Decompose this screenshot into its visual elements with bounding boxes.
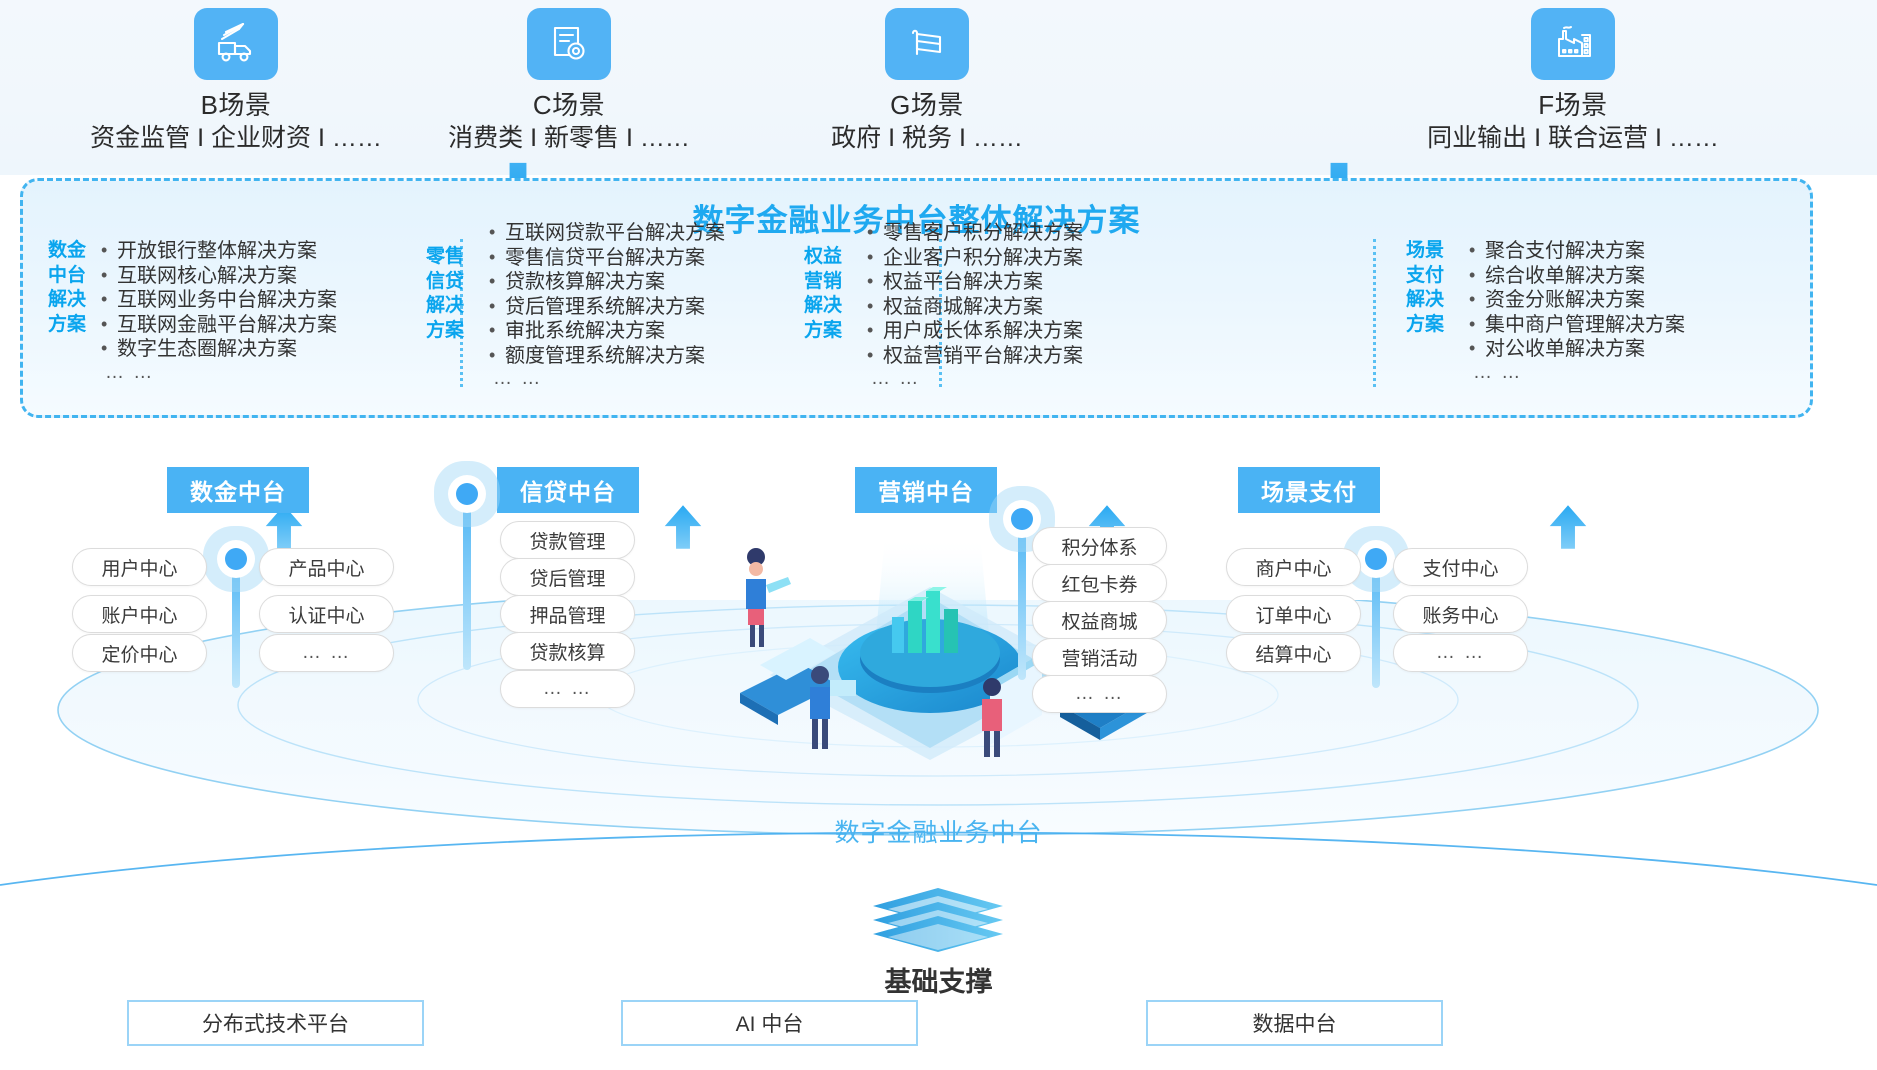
up-arrow-payment <box>1548 502 1588 552</box>
list-item: 零售信贷平台解决方案 <box>489 246 725 271</box>
platform-tag-payment[interactable]: 场景支付 <box>1238 467 1380 513</box>
receipt-icon <box>527 8 611 80</box>
stem-marketing <box>1018 520 1026 680</box>
list-item: 资金分账解决方案 <box>1469 288 1685 313</box>
list-ellipsis: … … <box>867 368 1083 390</box>
capsule-more-credit[interactable]: … … <box>500 670 635 708</box>
factory-icon <box>1531 8 1615 80</box>
list-item: 对公收单解决方案 <box>1469 337 1685 362</box>
list-item: 权益商城解决方案 <box>867 295 1083 320</box>
capsule-auth-center[interactable]: 认证中心 <box>259 595 394 633</box>
diagram-root: B场景 资金监管 I 企业财资 I …… C场景 消费类 I 新零售 I …… <box>0 0 1877 1070</box>
scenario-b[interactable]: B场景 资金监管 I 企业财资 I …… <box>66 8 406 155</box>
capsule-more-payment[interactable]: … … <box>1393 634 1528 672</box>
list-item: 审批系统解决方案 <box>489 319 725 344</box>
list-item: 集中商户管理解决方案 <box>1469 313 1685 338</box>
capsule-more-marketing[interactable]: … … <box>1032 675 1167 713</box>
capsule-account-center[interactable]: 账户中心 <box>72 595 207 633</box>
foundation-title: 基础支撑 <box>0 960 1877 999</box>
scenario-title: G场景 <box>757 89 1097 122</box>
capsule-payment-center[interactable]: 支付中心 <box>1393 548 1528 586</box>
truck-icon <box>194 8 278 80</box>
capsule-marketing-campaign[interactable]: 营销活动 <box>1032 638 1167 676</box>
platform-tag-marketing[interactable]: 营销中台 <box>855 467 997 513</box>
list-item: 聚合支付解决方案 <box>1469 239 1685 264</box>
list-item: 互联网金融平台解决方案 <box>101 313 337 338</box>
capsule-user-center[interactable]: 用户中心 <box>72 548 207 586</box>
list-item: 开放银行整体解决方案 <box>101 239 337 264</box>
scenario-subtitle: 同业输出 I 联合运营 I …… <box>1403 122 1743 155</box>
scenario-title: B场景 <box>66 89 406 122</box>
capsule-rights-mall[interactable]: 权益商城 <box>1032 601 1167 639</box>
capsule-product-center[interactable]: 产品中心 <box>259 548 394 586</box>
column-label: 场景 支付 解决 方案 <box>1403 239 1447 337</box>
capsule-accounting-center[interactable]: 账务中心 <box>1393 595 1528 633</box>
platform-tag-digital-finance[interactable]: 数金中台 <box>167 467 309 513</box>
foundation-box-ai-platform[interactable]: AI 中台 <box>621 1000 918 1046</box>
stem-digital-finance <box>232 560 240 688</box>
foundation-box-data-platform[interactable]: 数据中台 <box>1146 1000 1443 1046</box>
solution-list: 互联网贷款平台解决方案 零售信贷平台解决方案 贷款核算解决方案 贷后管理系统解决… <box>489 221 725 390</box>
capsule-settlement-center[interactable]: 结算中心 <box>1226 634 1361 672</box>
stem-credit <box>463 495 471 670</box>
stem-dot-marketing <box>1011 508 1033 530</box>
scenario-f[interactable]: F场景 同业输出 I 联合运营 I …… <box>1403 8 1743 155</box>
capsule-loan-accounting[interactable]: 贷款核算 <box>500 632 635 670</box>
capsule-order-center[interactable]: 订单中心 <box>1226 595 1361 633</box>
list-item: 互联网贷款平台解决方案 <box>489 221 725 246</box>
solution-column-digital-finance: 数金 中台 解决 方案 开放银行整体解决方案 互联网核心解决方案 互联网业务中台… <box>45 239 337 384</box>
scenario-title: F场景 <box>1403 89 1743 122</box>
list-item: 零售客户积分解决方案 <box>867 221 1083 246</box>
scenario-c[interactable]: C场景 消费类 I 新零售 I …… <box>399 8 739 155</box>
list-item: 额度管理系统解决方案 <box>489 344 725 369</box>
list-item: 贷款核算解决方案 <box>489 270 725 295</box>
column-label: 权益 营销 解决 方案 <box>801 245 845 343</box>
capsule-coupons[interactable]: 红包卡券 <box>1032 564 1167 602</box>
platform-tag-credit[interactable]: 信贷中台 <box>497 467 639 513</box>
scenario-subtitle: 政府 I 税务 I …… <box>757 122 1097 155</box>
stem-payment <box>1372 560 1380 688</box>
stem-dot-credit <box>456 483 478 505</box>
capsule-collateral-management[interactable]: 押品管理 <box>500 595 635 633</box>
list-item: 企业客户积分解决方案 <box>867 246 1083 271</box>
list-ellipsis: … … <box>1469 362 1685 384</box>
capsule-post-loan-management[interactable]: 贷后管理 <box>500 558 635 596</box>
scenario-title: C场景 <box>399 89 739 122</box>
solution-list: 零售客户积分解决方案 企业客户积分解决方案 权益平台解决方案 权益商城解决方案 … <box>867 221 1083 390</box>
list-ellipsis: … … <box>489 368 725 390</box>
capsule-more-digital-finance[interactable]: … … <box>259 634 394 672</box>
list-item: 互联网核心解决方案 <box>101 264 337 289</box>
list-item: 权益营销平台解决方案 <box>867 344 1083 369</box>
solution-column-rights-marketing: 权益 营销 解决 方案 零售客户积分解决方案 企业客户积分解决方案 权益平台解决… <box>801 221 1083 390</box>
solution-panel: 数字金融业务中台整体解决方案 数金 中台 解决 方案 开放银行整体解决方案 互联… <box>20 178 1813 418</box>
list-item: 贷后管理系统解决方案 <box>489 295 725 320</box>
list-item: 数字生态圈解决方案 <box>101 337 337 362</box>
list-ellipsis: … … <box>101 362 337 384</box>
column-label: 数金 中台 解决 方案 <box>45 239 89 337</box>
scenario-subtitle: 消费类 I 新零售 I …… <box>399 122 739 155</box>
capsule-loan-management[interactable]: 贷款管理 <box>500 521 635 559</box>
solution-list: 开放银行整体解决方案 互联网核心解决方案 互联网业务中台解决方案 互联网金融平台… <box>101 239 337 384</box>
solution-column-scenario-payment: 场景 支付 解决 方案 聚合支付解决方案 综合收单解决方案 资金分账解决方案 集… <box>1403 239 1685 384</box>
scenario-band: B场景 资金监管 I 企业财资 I …… C场景 消费类 I 新零售 I …… <box>0 0 1877 175</box>
capsule-pricing-center[interactable]: 定价中心 <box>72 634 207 672</box>
stem-dot-digital-finance <box>225 548 247 570</box>
foundation-box-distributed-tech[interactable]: 分布式技术平台 <box>127 1000 424 1046</box>
middle-platform-label: 数字金融业务中台 <box>0 813 1877 849</box>
layers-stack-icon <box>853 888 1023 960</box>
list-item: 权益平台解决方案 <box>867 270 1083 295</box>
capsule-merchant-center[interactable]: 商户中心 <box>1226 548 1361 586</box>
list-item: 用户成长体系解决方案 <box>867 319 1083 344</box>
flag-icon <box>885 8 969 80</box>
list-item: 综合收单解决方案 <box>1469 264 1685 289</box>
solution-list: 聚合支付解决方案 综合收单解决方案 资金分账解决方案 集中商户管理解决方案 对公… <box>1469 239 1685 384</box>
scenario-g[interactable]: G场景 政府 I 税务 I …… <box>757 8 1097 155</box>
stem-dot-payment <box>1365 548 1387 570</box>
list-item: 互联网业务中台解决方案 <box>101 288 337 313</box>
scenario-subtitle: 资金监管 I 企业财资 I …… <box>66 122 406 155</box>
capsule-points-system[interactable]: 积分体系 <box>1032 527 1167 565</box>
solution-column-retail-credit: 零售 信贷 解决 方案 互联网贷款平台解决方案 零售信贷平台解决方案 贷款核算解… <box>423 221 725 390</box>
column-label: 零售 信贷 解决 方案 <box>423 245 467 343</box>
